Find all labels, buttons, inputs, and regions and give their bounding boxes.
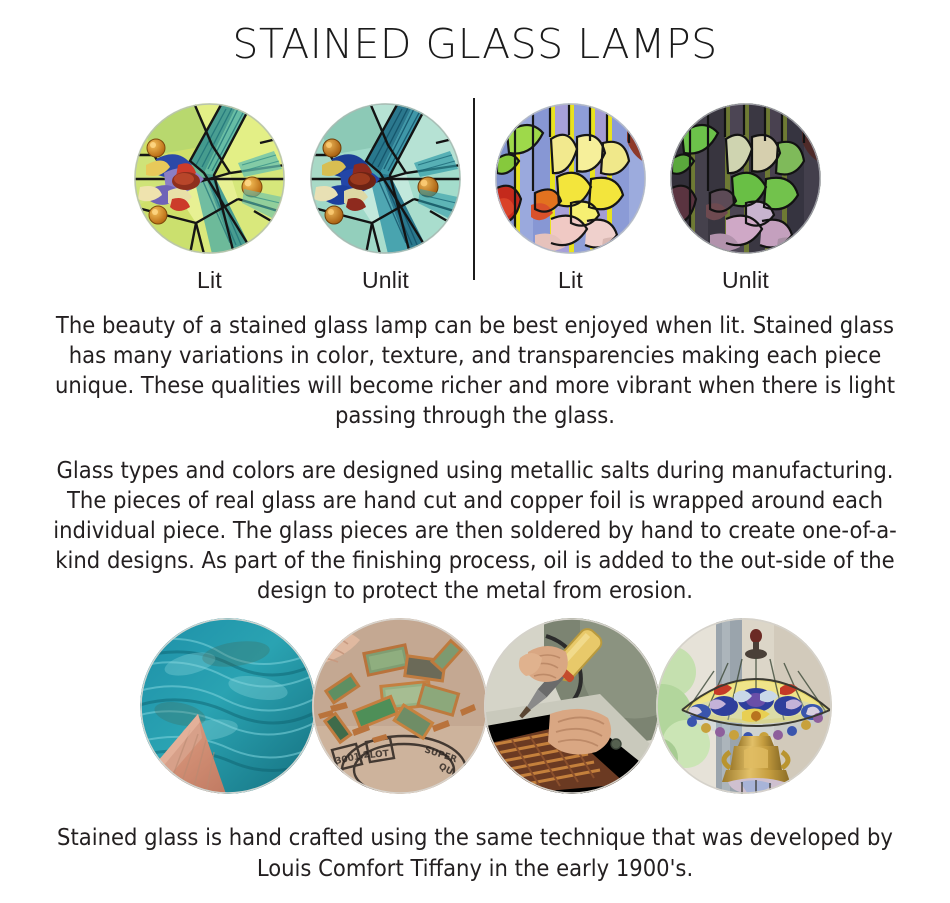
- svg-text:LOT: LOT: [369, 749, 390, 761]
- page-title: STAINED GLASS LAMPS: [0, 22, 950, 67]
- bottom-caption: Stained glass is hand crafted using the …: [48, 822, 902, 884]
- finished-lamp-photo: [656, 618, 832, 794]
- comparison-label: Lit: [127, 267, 292, 294]
- comparison-label: Unlit: [663, 267, 828, 294]
- glass-sheets-photo: [140, 618, 316, 794]
- comparison-row: Lit: [0, 98, 950, 303]
- process-row: 3001.2 LOT SUPER QU: [0, 618, 950, 798]
- poster-page: STAINED GLASS LAMPS: [0, 0, 950, 903]
- comparison-label: Unlit: [303, 267, 468, 294]
- comparison-item-floral-unlit: Unlit: [663, 98, 828, 294]
- comparison-label: Lit: [488, 267, 653, 294]
- vertical-divider: [473, 98, 475, 280]
- comparison-item-dragonfly-unlit: Unlit: [303, 98, 468, 294]
- copper-foil-photo: 3001.2 LOT SUPER QU: [312, 618, 488, 794]
- dragonfly-lamp-lit-image: [134, 103, 285, 254]
- paragraph-process: Glass types and colors are designed usin…: [48, 455, 902, 605]
- floral-lamp-lit-image: [495, 103, 646, 254]
- floral-lamp-unlit-image: [670, 103, 821, 254]
- soldering-photo: [484, 618, 660, 794]
- comparison-item-dragonfly-lit: Lit: [127, 98, 292, 294]
- paragraph-intro: The beauty of a stained glass lamp can b…: [48, 310, 902, 430]
- comparison-item-floral-lit: Lit: [488, 98, 653, 294]
- dragonfly-lamp-unlit-image: [310, 103, 461, 254]
